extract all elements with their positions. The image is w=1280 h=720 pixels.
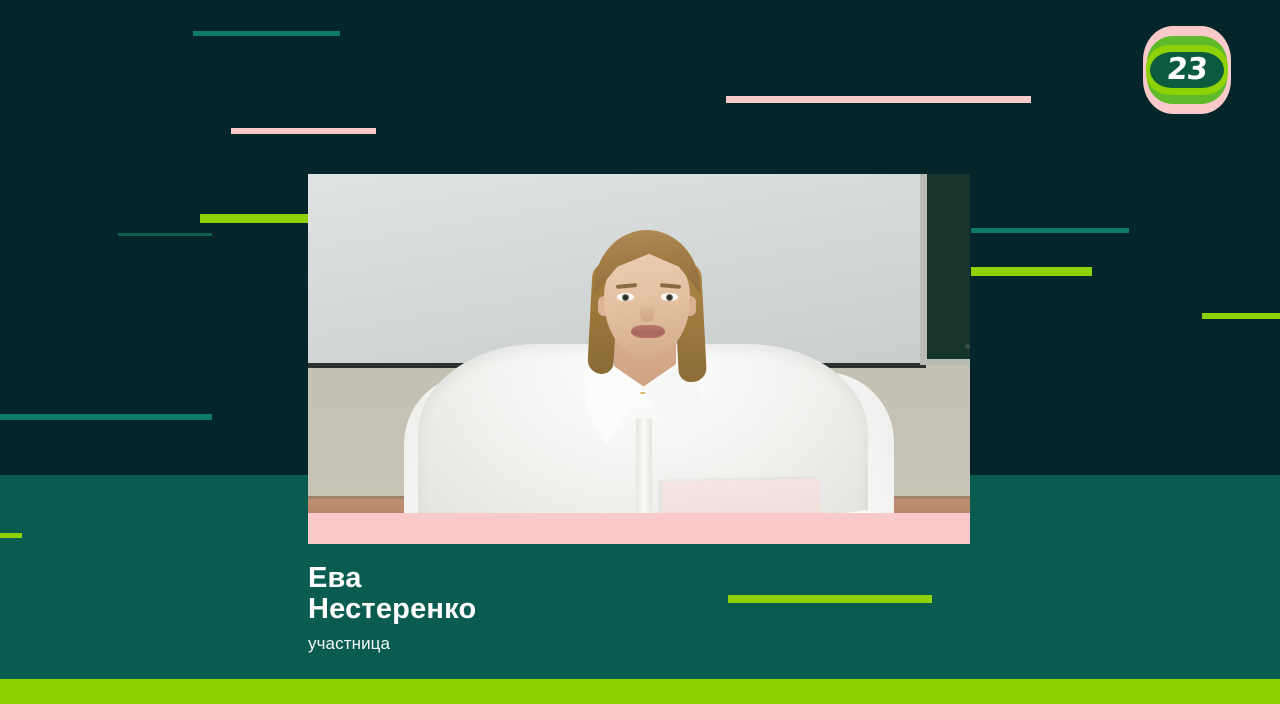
classroom-scene xyxy=(308,174,970,544)
lips xyxy=(631,325,665,338)
iris-right xyxy=(666,294,673,301)
nose xyxy=(640,302,654,322)
video-pink-overlay-bar xyxy=(308,513,970,544)
streak-lime-left-edge xyxy=(0,533,22,538)
video-feed[interactable] xyxy=(308,174,970,544)
participant-last-name: Нестеренко xyxy=(308,594,476,625)
streak-lime-left xyxy=(200,214,308,223)
bottom-lime-band xyxy=(0,679,1280,704)
streak-teal-left-lower xyxy=(0,414,212,420)
eye-left xyxy=(617,293,634,301)
chalkboard xyxy=(920,174,970,365)
channel-logo-icon: 23 xyxy=(1143,26,1231,114)
streak-pink-top-center xyxy=(726,96,1031,103)
streak-pink-upper-left xyxy=(231,128,376,134)
streak-lime-right xyxy=(971,267,1092,276)
streak-teal-top-left xyxy=(193,31,340,36)
lower-third-text: Ева Нестеренко участница xyxy=(308,563,476,654)
iris-left xyxy=(622,294,629,301)
participant-first-name: Ева xyxy=(308,563,476,594)
streak-lime-name-right xyxy=(728,595,932,603)
participant-role: участница xyxy=(308,634,476,654)
streak-teal-left-thin xyxy=(118,233,212,236)
streak-lime-far-right xyxy=(1202,313,1280,319)
broadcast-screen: Ева Нестеренко участница 23 xyxy=(0,0,1280,720)
logo-core: 23 xyxy=(1150,52,1224,88)
logo-number: 23 xyxy=(1166,55,1209,85)
eye-right xyxy=(661,293,678,301)
streak-teal-right xyxy=(971,228,1129,233)
bottom-pink-band xyxy=(0,704,1280,720)
chalkboard-screw xyxy=(965,344,970,349)
participant-figure xyxy=(418,222,868,522)
